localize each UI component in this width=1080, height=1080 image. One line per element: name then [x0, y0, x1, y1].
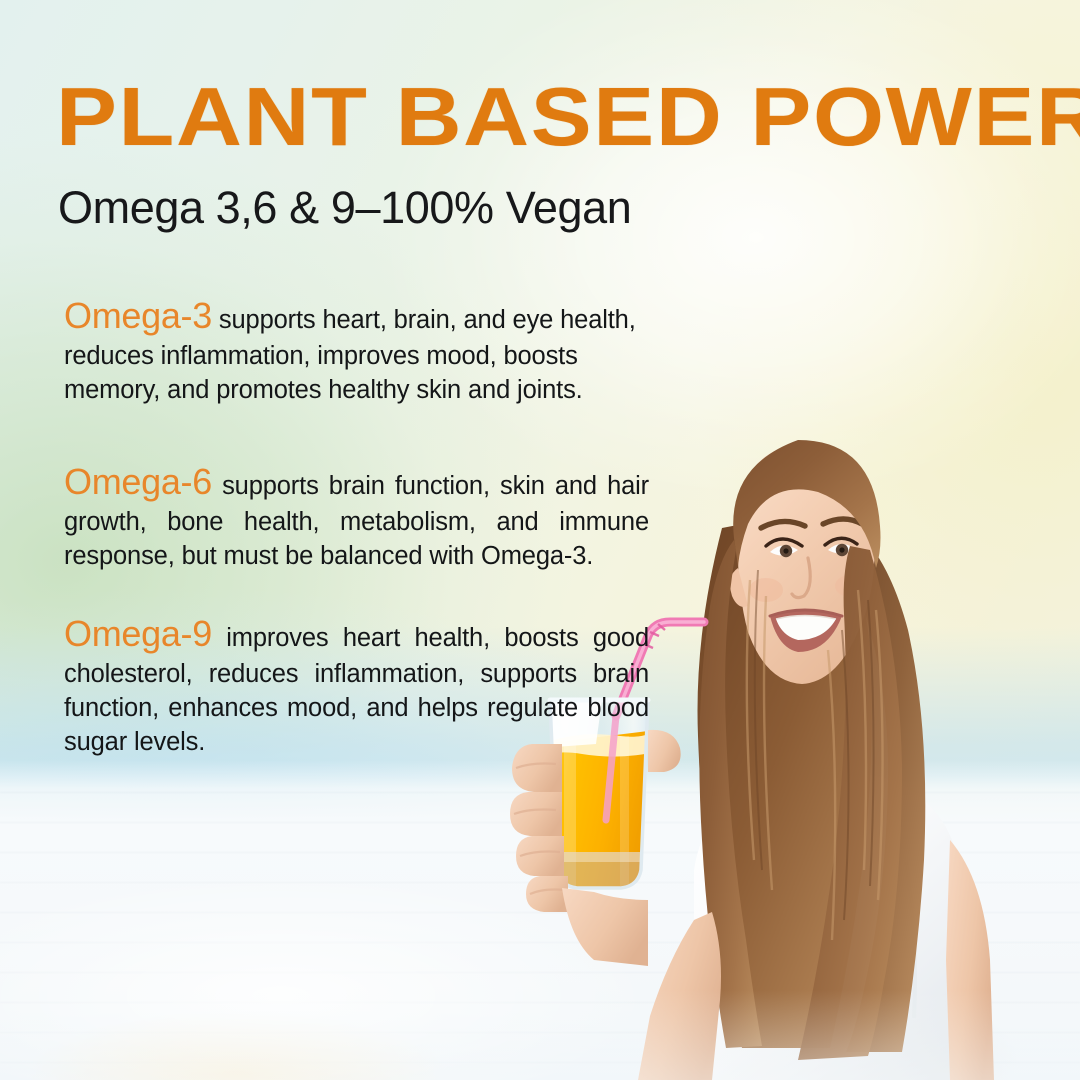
omega-3-block: Omega-3 supports heart, brain, and eye h…: [64, 292, 664, 408]
omega-6-label: Omega-6: [64, 461, 212, 502]
woman-left-arm: [638, 912, 721, 1080]
omega-3-label: Omega-3: [64, 295, 212, 336]
omega-9-label: Omega-9: [64, 613, 212, 654]
omega-9-block: Omega-9 improves heart health, boosts go…: [64, 610, 649, 760]
page-subtitle: Omega 3,6 & 9–100% Vegan: [58, 182, 631, 234]
poster-canvas: PLANT BASED POWER Omega 3,6 & 9–100% Veg…: [0, 0, 1080, 1080]
page-title: PLANT BASED POWER: [56, 78, 1046, 157]
omega-6-block: Omega-6 supports brain function, skin an…: [64, 458, 649, 574]
